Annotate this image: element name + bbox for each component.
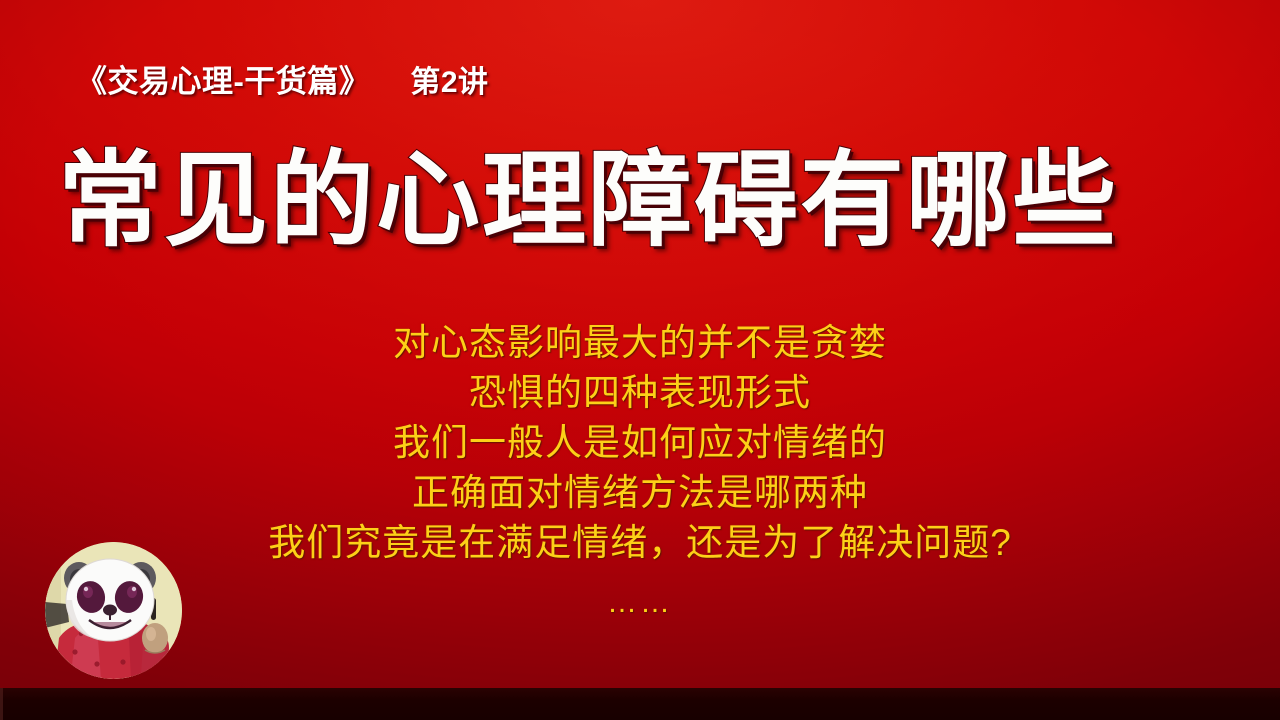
list-item: 我们一般人是如何应对情绪的 bbox=[0, 418, 1280, 468]
list-item: 恐惧的四种表现形式 bbox=[0, 368, 1280, 418]
page-title: 常见的心理障碍有哪些 bbox=[58, 142, 1238, 260]
lesson-label: 第2讲 bbox=[410, 57, 488, 101]
avatar bbox=[45, 542, 182, 679]
bottom-bar bbox=[0, 688, 1280, 720]
slide-canvas: 《交易心理-干货篇》 第2讲 常见的心理障碍有哪些 对心态影响最大的并不是贪婪 … bbox=[0, 0, 1280, 720]
list-item: 我们究竟是在满足情绪，还是为了解决问题? bbox=[0, 518, 1280, 568]
series-title: 《交易心理-干货篇》 bbox=[76, 56, 370, 101]
list-item: 对心态影响最大的并不是贪婪 bbox=[0, 318, 1280, 368]
topic-list: 对心态影响最大的并不是贪婪 恐惧的四种表现形式 我们一般人是如何应对情绪的 正确… bbox=[0, 318, 1280, 620]
panda-avatar-icon bbox=[45, 542, 182, 679]
list-item: 正确面对情绪方法是哪两种 bbox=[0, 468, 1280, 518]
ellipsis-marker: …… bbox=[0, 586, 1280, 620]
eyebrow-header: 《交易心理-干货篇》 第2讲 bbox=[76, 56, 489, 101]
bottom-bar-edge bbox=[0, 688, 3, 720]
